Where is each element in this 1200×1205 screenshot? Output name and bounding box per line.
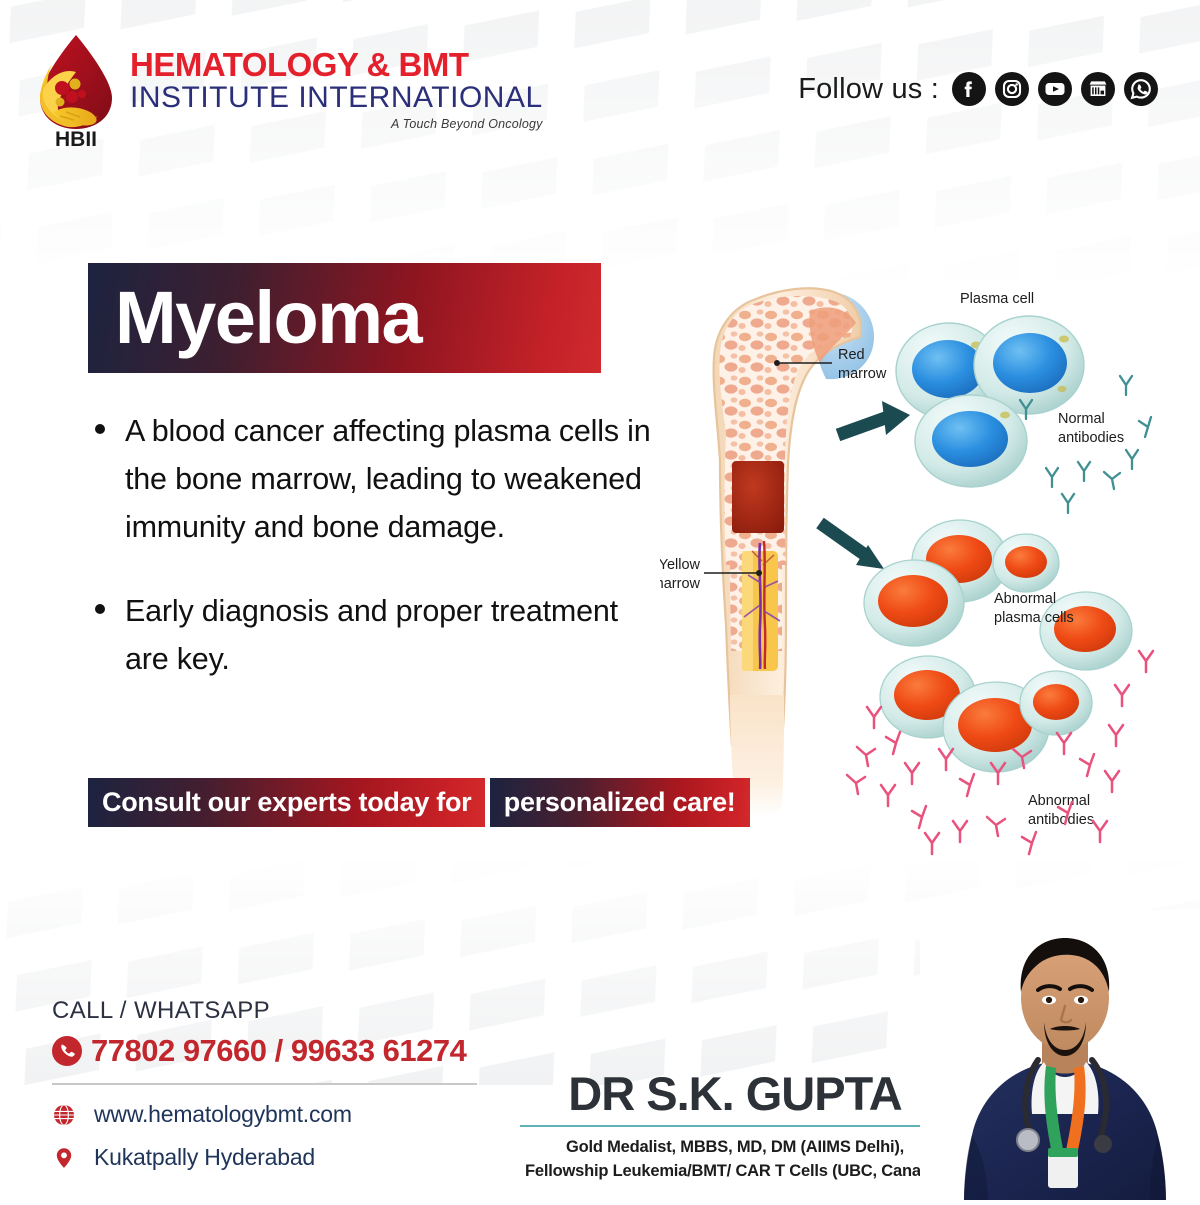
- label-plasma-cell: Plasma cell: [960, 291, 1034, 307]
- logo-abbr-text: HBII: [55, 128, 97, 150]
- brand-tagline: A Touch Beyond Oncology: [130, 117, 543, 131]
- list-item: Early diagnosis and proper treatment are…: [95, 588, 655, 684]
- page-footer: CALL / WHATSAPP 77802 97660 / 99633 6127…: [0, 975, 1200, 1200]
- doctor-credentials-line2: Fellowship Leukemia/BMT/ CAR T Cells (UB…: [495, 1160, 975, 1184]
- brand-wordmark: HEMATOLOGY & BMT INSTITUTE INTERNATIONAL…: [130, 32, 543, 131]
- page-header: HBII HEMATOLOGY & BMT INSTITUTE INTERNAT…: [0, 0, 1200, 170]
- hbii-logo-glyph: HBII: [30, 32, 122, 150]
- brand-name-line1: HEMATOLOGY & BMT: [130, 48, 543, 81]
- facebook-icon[interactable]: [952, 72, 986, 106]
- phone-icon: [52, 1036, 82, 1066]
- bullet-text: A blood cancer affecting plasma cells in…: [125, 408, 655, 552]
- contact-block: CALL / WHATSAPP 77802 97660 / 99633 6127…: [52, 997, 512, 1171]
- cta-banner[interactable]: Consult our experts today for personaliz…: [88, 775, 750, 827]
- globe-icon: [52, 1103, 76, 1127]
- label-abnormal-cells-line1: Abnormal: [994, 591, 1056, 607]
- yellow-marrow-pointer-dot: [756, 570, 762, 576]
- cta-line-1[interactable]: Consult our experts today for: [88, 778, 485, 827]
- whatsapp-icon[interactable]: [1124, 72, 1158, 106]
- red-marrow-cavity: [732, 461, 784, 533]
- key-points-list: A blood cancer affecting plasma cells in…: [95, 408, 655, 719]
- call-whatsapp-label: CALL / WHATSAPP: [52, 997, 512, 1025]
- brand-name-line2: INSTITUTE INTERNATIONAL: [130, 81, 543, 115]
- red-marrow-pointer-dot: [774, 360, 780, 366]
- bullet-text: Early diagnosis and proper treatment are…: [125, 588, 655, 684]
- doctor-name-rule: [520, 1125, 950, 1127]
- doctor-photo: [920, 910, 1200, 1200]
- arrow-to-normal-cells: [838, 401, 910, 435]
- label-normal-antibodies-line1: Normal: [1058, 411, 1105, 427]
- google-business-icon[interactable]: [1081, 72, 1115, 106]
- doctor-name: DR S.K. GUPTA: [495, 1070, 975, 1117]
- label-normal-antibodies-line2: antibodies: [1058, 430, 1124, 446]
- location-pin-icon: [52, 1146, 76, 1170]
- social-follow-bar: Follow us :: [798, 72, 1158, 106]
- label-abnormal-antibodies-line2: antibodies: [1028, 812, 1094, 828]
- label-red-marrow-line1: Red: [838, 347, 865, 363]
- label-abnormal-cells-line2: plasma cells: [994, 610, 1074, 626]
- list-item: A blood cancer affecting plasma cells in…: [95, 408, 655, 552]
- location-text[interactable]: Kukatpally Hyderabad: [94, 1144, 315, 1171]
- bullet-dot-icon: [95, 424, 105, 434]
- instagram-icon[interactable]: [995, 72, 1029, 106]
- phone-number[interactable]: 77802 97660 / 99633 61274: [91, 1033, 466, 1069]
- doctor-credentials-line1: Gold Medalist, MBBS, MD, DM (AIIMS Delhi…: [495, 1136, 975, 1160]
- blood-vessel-artery: [764, 541, 765, 669]
- brand-logo[interactable]: HBII HEMATOLOGY & BMT INSTITUTE INTERNAT…: [30, 32, 543, 150]
- phone-row[interactable]: 77802 97660 / 99633 61274: [52, 1033, 512, 1069]
- website-row[interactable]: www.hematologybmt.com: [52, 1101, 512, 1128]
- normal-plasma-cells: [896, 316, 1084, 487]
- website-url[interactable]: www.hematologybmt.com: [94, 1101, 352, 1128]
- label-yellow-marrow-line1: Yellow: [660, 557, 701, 573]
- follow-us-label: Follow us :: [798, 73, 939, 106]
- blood-drop-logo-icon: HBII: [30, 32, 122, 150]
- arrow-to-abnormal-cells: [820, 523, 884, 569]
- label-yellow-marrow-line2: marrow: [660, 576, 701, 592]
- youtube-icon[interactable]: [1038, 72, 1072, 106]
- page-title: Myeloma: [115, 281, 421, 355]
- footer-divider: [52, 1083, 477, 1085]
- location-row[interactable]: Kukatpally Hyderabad: [52, 1144, 512, 1171]
- abnormal-plasma-cells: [864, 520, 1132, 772]
- cta-line-2[interactable]: personalized care!: [490, 778, 750, 827]
- title-banner: Myeloma: [88, 263, 601, 373]
- doctor-info-block: DR S.K. GUPTA Gold Medalist, MBBS, MD, D…: [495, 1070, 975, 1184]
- label-red-marrow-line2: marrow: [838, 366, 887, 382]
- bullet-dot-icon: [95, 604, 105, 614]
